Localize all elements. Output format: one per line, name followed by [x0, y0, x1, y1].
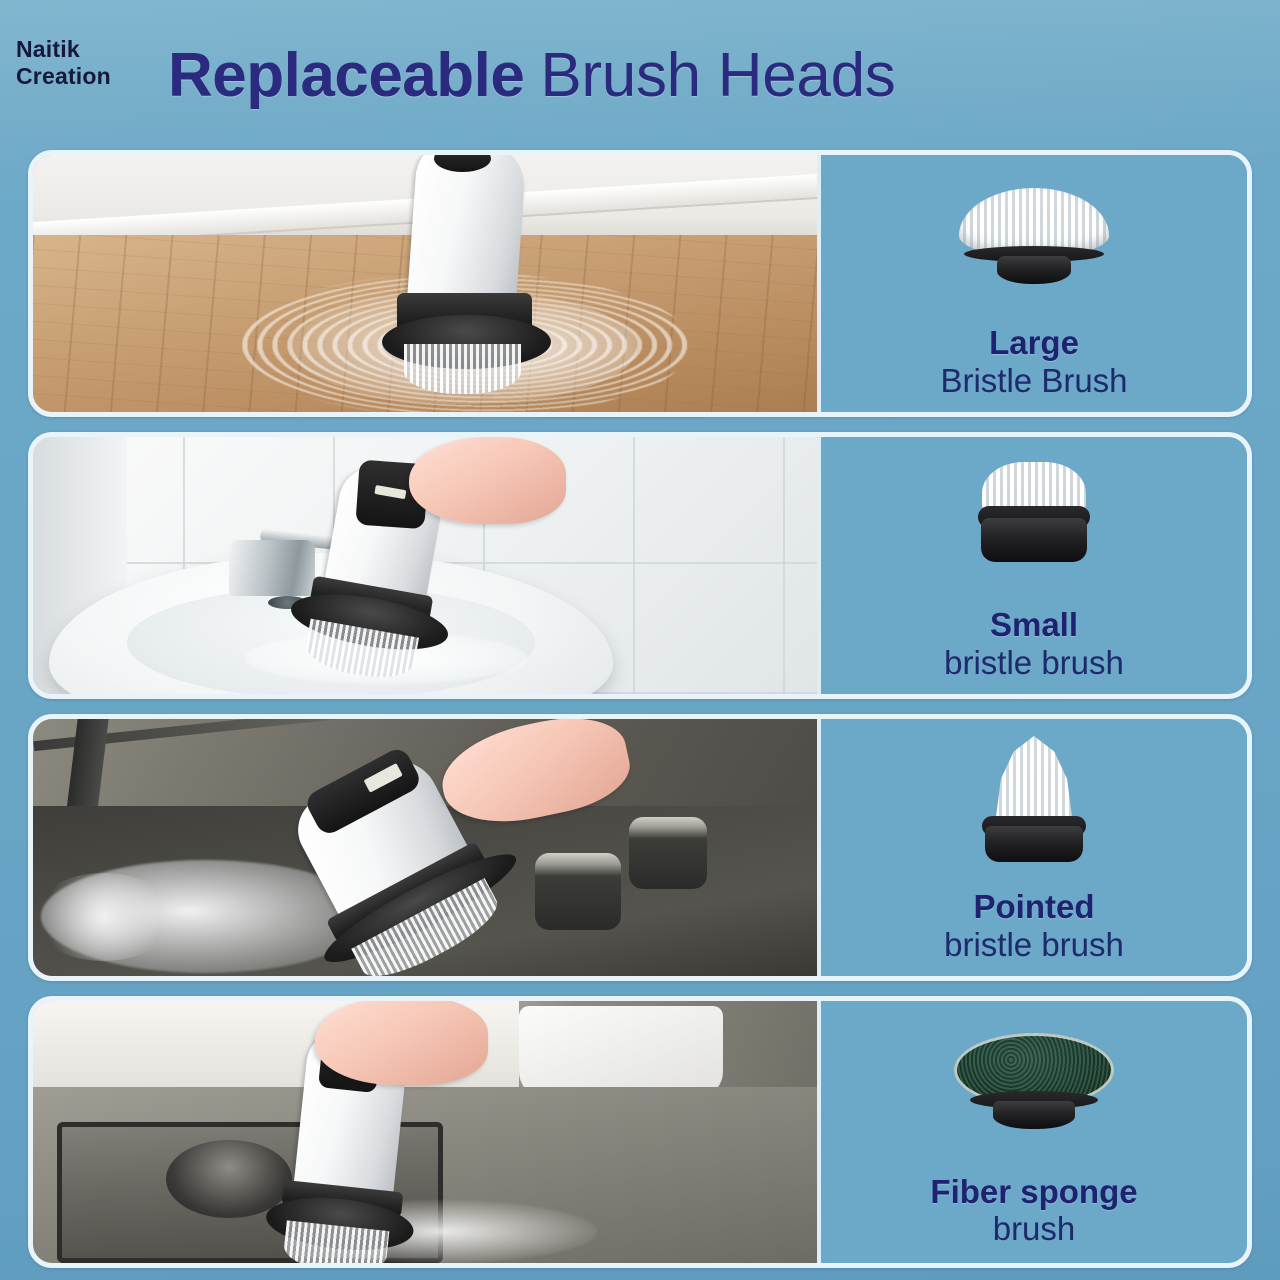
card-title-3: Pointed	[974, 890, 1095, 925]
brand-logo: Naitik Creation	[16, 36, 166, 89]
bristle-cone	[988, 736, 1080, 822]
foam-patch	[33, 873, 174, 960]
brush-head-label-3: Pointed bristle brush	[821, 719, 1247, 976]
brand-line-1: Naitik	[16, 36, 166, 63]
burner-knob	[629, 817, 707, 889]
card-title-4: Fiber sponge	[930, 1175, 1137, 1210]
brand-line-2: Creation	[16, 63, 166, 90]
hand	[409, 437, 566, 524]
photo-bathroom-sink-scrubbing	[33, 437, 821, 694]
header: Naitik Creation Replaceable Brush Heads	[0, 0, 1280, 140]
card-subtitle-1: Bristle Brush	[940, 363, 1127, 399]
head-base	[993, 1101, 1075, 1129]
brush-head-label-1: Large Bristle Brush	[821, 155, 1247, 412]
page-title-regular: Brush Heads	[540, 45, 895, 107]
brush-head-label-2: Small bristle brush	[821, 437, 1247, 694]
brush-head-card-3[interactable]: Pointed bristle brush	[28, 714, 1252, 981]
spin-scrubber-tool	[378, 155, 566, 386]
bristle-dome	[959, 188, 1109, 254]
hand	[315, 1001, 487, 1085]
photo-cooktop-scrubbing	[33, 719, 821, 976]
brush-head-card-4[interactable]: Fiber sponge brush	[28, 996, 1252, 1268]
card-subtitle-3: bristle brush	[944, 927, 1124, 963]
brush-head-label-4: Fiber sponge brush	[821, 1001, 1247, 1263]
infographic-page: Naitik Creation Replaceable Brush Heads	[0, 0, 1280, 1280]
card-title-1: Large	[989, 326, 1079, 361]
card-subtitle-2: bristle brush	[944, 645, 1124, 681]
card-title-2: Small	[990, 608, 1078, 643]
photo-gas-stove-scrubbing	[33, 1001, 821, 1263]
page-title: Replaceable Brush Heads	[168, 34, 1168, 118]
page-title-bold: Replaceable	[168, 45, 524, 107]
photo-wooden-floor-scrubbing	[33, 155, 821, 412]
head-base	[997, 256, 1071, 284]
head-base	[985, 826, 1083, 862]
brush-head-card-1[interactable]: Large Bristle Brush	[28, 150, 1252, 417]
brush-head-card-2[interactable]: Small bristle brush	[28, 432, 1252, 699]
card-subtitle-4: brush	[993, 1211, 1076, 1247]
head-base	[981, 518, 1087, 562]
